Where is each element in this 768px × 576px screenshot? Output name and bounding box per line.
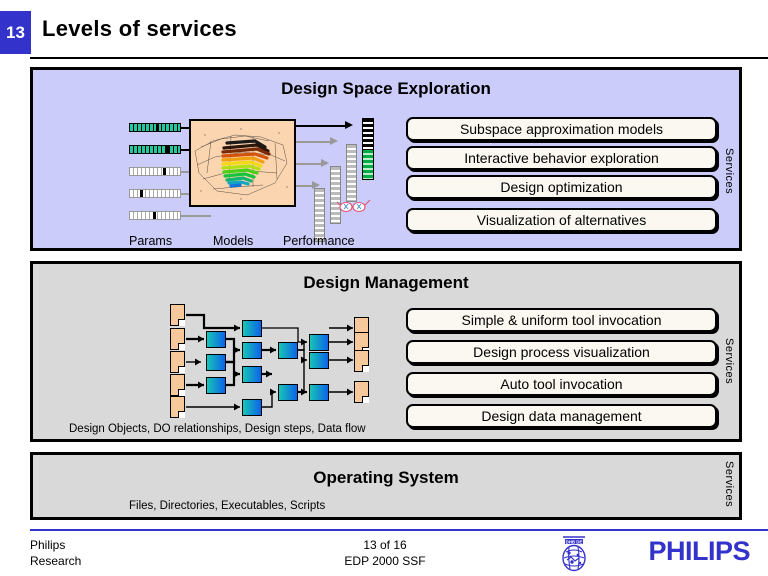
design-step-box-d1 xyxy=(309,334,329,351)
param-slider-1[interactable] xyxy=(129,123,181,132)
param-slider-4[interactable] xyxy=(129,189,181,198)
performance-gauge-2 xyxy=(330,166,341,224)
panel-title-design-management: Design Management xyxy=(33,273,739,293)
service-button-design-data-management[interactable]: Design data management xyxy=(406,404,717,428)
service-button-auto-tool-invocation[interactable]: Auto tool invocation xyxy=(406,372,717,396)
slider-knob[interactable] xyxy=(163,167,166,176)
panel-operating-system: Operating System Services Files, Directo… xyxy=(30,452,742,520)
slide-canvas: 13 Levels of services Design Space Explo… xyxy=(0,0,768,576)
services-label-dse: Services xyxy=(723,148,735,194)
gauge-green-fill xyxy=(363,149,373,179)
footer-company-line2: Research xyxy=(30,553,81,569)
column-label-models: Models xyxy=(213,234,253,248)
design-object-doc-in-5 xyxy=(170,396,185,418)
slider-knob[interactable] xyxy=(156,123,159,132)
slide-number-badge: 13 xyxy=(0,11,31,54)
design-step-box-b1 xyxy=(242,320,262,337)
perf-arrow-line-3 xyxy=(296,163,324,165)
perf-arrow-head-3 xyxy=(321,159,329,167)
services-label-operating-system: Services xyxy=(723,461,735,507)
perf-arrow-head-2 xyxy=(330,137,338,145)
perf-arrow-line-1 xyxy=(296,125,346,127)
param-slider-3[interactable] xyxy=(129,167,181,176)
design-object-doc-in-1 xyxy=(170,304,185,326)
design-flow-diagram xyxy=(148,302,376,416)
design-object-doc-out-3 xyxy=(354,350,369,372)
perf-arrow-line-2 xyxy=(296,141,332,143)
footer-page-info: 13 of 16 EDP 2000 SSF xyxy=(300,537,470,569)
perf-arrow-head-1 xyxy=(345,121,353,129)
footer-company-line1: Philips xyxy=(30,537,81,553)
service-button-visualization-of-alternatives[interactable]: Visualization of alternatives xyxy=(406,208,717,232)
performance-gauge-4 xyxy=(362,118,374,180)
design-step-box-d3 xyxy=(309,384,329,401)
philips-wordmark: PHILIPS xyxy=(648,536,750,567)
panel-caption-design-management: Design Objects, DO relationships, Design… xyxy=(69,423,366,435)
design-step-box-b2 xyxy=(242,342,262,359)
panel-title-dse: Design Space Exploration xyxy=(33,79,739,99)
services-label-design-management: Services xyxy=(723,338,735,384)
design-step-box-d2 xyxy=(309,352,329,369)
design-step-box-a2 xyxy=(206,354,226,371)
footer-page-number: 13 of 16 xyxy=(300,537,470,553)
design-object-doc-in-4 xyxy=(170,374,185,396)
philips-shield-logo-icon: DHB DE xyxy=(556,533,592,573)
performance-gauge-3 xyxy=(346,144,357,202)
slider-knob[interactable] xyxy=(166,145,169,154)
param-slider-5[interactable] xyxy=(129,211,181,220)
design-object-doc-out-4 xyxy=(354,381,369,403)
design-step-box-a3 xyxy=(206,377,226,394)
service-button-design-optimization[interactable]: Design optimization xyxy=(406,175,717,199)
column-label-performance: Performance xyxy=(283,234,355,248)
design-step-box-b3 xyxy=(242,366,262,383)
slider-track xyxy=(130,190,180,197)
panel-design-management: Design Management Services Design Object… xyxy=(30,261,742,442)
slider-knob[interactable] xyxy=(140,189,143,198)
footer-event: EDP 2000 SSF xyxy=(300,553,470,569)
design-object-doc-in-2 xyxy=(170,328,185,350)
param-slider-2[interactable] xyxy=(129,145,181,154)
title-divider xyxy=(30,57,768,59)
slider-track xyxy=(130,124,180,131)
service-button-interactive-behavior-exploration[interactable]: Interactive behavior exploration xyxy=(406,146,717,170)
panel-caption-operating-system: Files, Directories, Executables, Scripts xyxy=(129,500,325,512)
slider-track xyxy=(130,168,180,175)
slider-knob[interactable] xyxy=(153,211,156,220)
glasses-icon xyxy=(337,196,371,214)
panel-title-operating-system: Operating System xyxy=(33,468,739,488)
design-space-surface-plot xyxy=(189,119,296,207)
design-step-box-b4 xyxy=(242,399,262,416)
service-button-design-process-visualization[interactable]: Design process visualization xyxy=(406,340,717,364)
panel-design-space-exploration: Design Space Exploration Services xyxy=(30,67,742,251)
gauge-segments xyxy=(331,167,340,223)
column-label-params: Params xyxy=(129,234,172,248)
param-lead-line-5 xyxy=(181,215,211,217)
design-step-box-a1 xyxy=(206,331,226,348)
design-step-box-c1 xyxy=(278,342,298,359)
service-button-simple-uniform-tool-invocation[interactable]: Simple & uniform tool invocation xyxy=(406,308,717,332)
footer-divider xyxy=(30,529,768,531)
page-title: Levels of services xyxy=(42,16,237,42)
design-object-doc-in-3 xyxy=(170,351,185,373)
design-step-box-c2 xyxy=(278,384,298,401)
footer-company: Philips Research xyxy=(30,537,81,569)
gauge-segments xyxy=(347,145,356,201)
svg-text:DHB DE: DHB DE xyxy=(566,539,583,544)
surface-plot-svg xyxy=(191,121,294,205)
slider-track xyxy=(130,146,180,153)
service-button-subspace-approximation-models[interactable]: Subspace approximation models xyxy=(406,117,717,141)
